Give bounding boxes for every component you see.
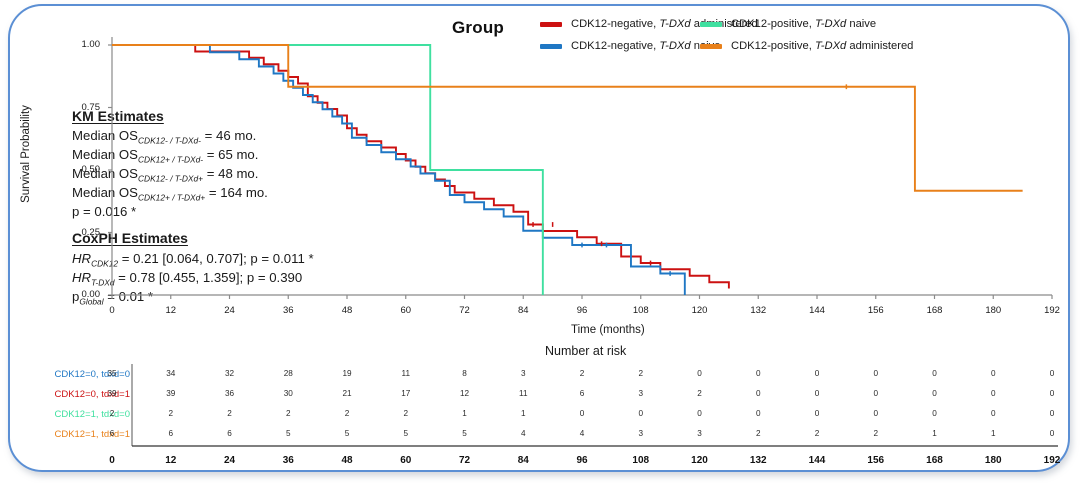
km-plot-figure: Group Survival Probability Time (months)…	[0, 0, 1080, 483]
curve-CDK12-negative, T-DXd naive	[151, 45, 685, 295]
curve-CDK12-negative, T-DXd administered	[161, 45, 729, 289]
curve-CDK12-positive, T-DXd administered	[112, 45, 1023, 191]
curve-CDK12-positive, T-DXd naive	[112, 45, 543, 295]
survival-curves	[0, 0, 1080, 483]
